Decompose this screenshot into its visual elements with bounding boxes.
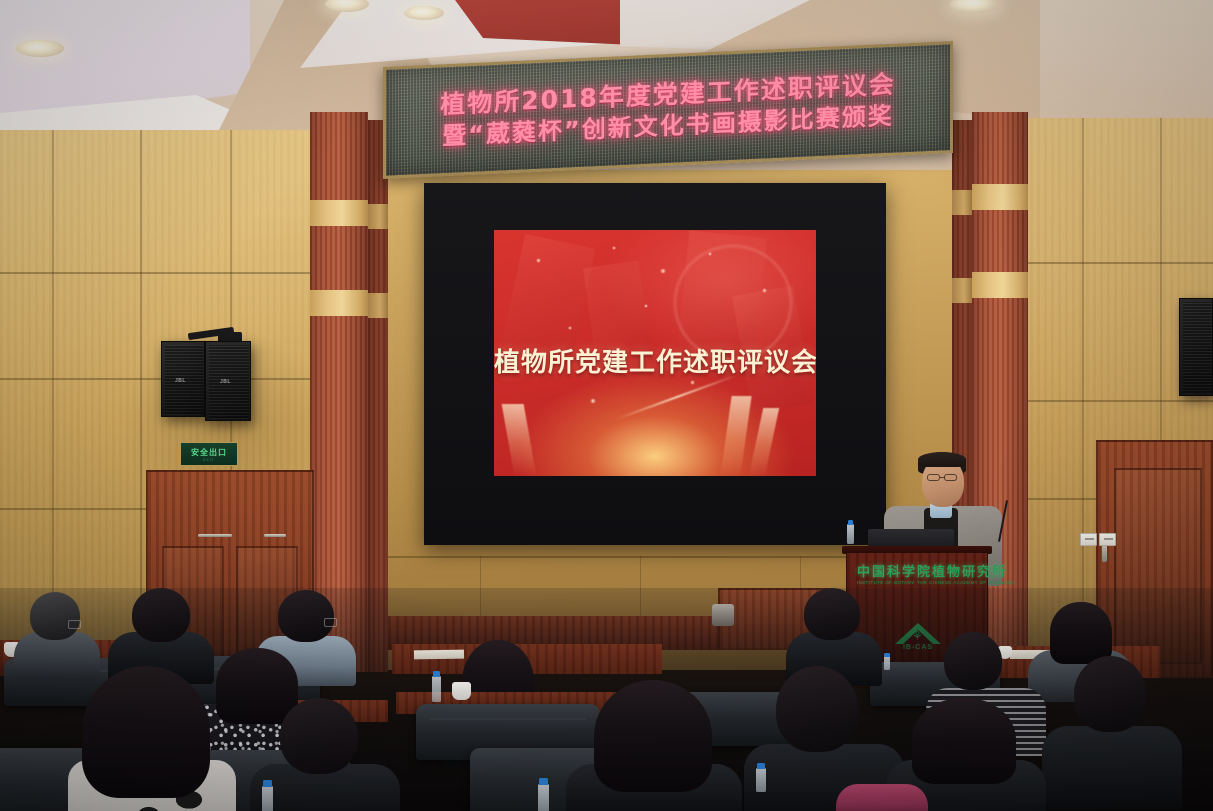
slide-sparkle: [762, 288, 767, 293]
audience-hair: [1050, 602, 1112, 664]
bottle-cap: [539, 778, 548, 785]
wall-panel-seam: [0, 272, 310, 274]
slide-sparkle: [590, 398, 596, 404]
presenter-glasses: [927, 474, 940, 481]
column-band: [952, 190, 972, 215]
audience-member: [60, 666, 240, 811]
water-bottle[interactable]: [847, 524, 854, 544]
water-bottle[interactable]: [262, 786, 273, 811]
audience-glasses: [68, 620, 81, 629]
projection-screen-slide: 植物所党建工作述职评议会: [494, 230, 816, 476]
column-band: [310, 200, 368, 226]
wall-speaker-right: [1179, 298, 1213, 396]
slide-sparkle: [708, 252, 712, 256]
column-band: [972, 184, 1028, 210]
outlet-slot: [1085, 538, 1094, 540]
bottle-cap: [263, 780, 272, 787]
bottle-cap: [848, 520, 853, 525]
audience-member: [786, 588, 882, 678]
slide-sail-shape: [749, 408, 779, 476]
audience-member: [1042, 656, 1182, 786]
audience-head: [280, 698, 358, 774]
power-outlet[interactable]: [1080, 533, 1097, 546]
slide-sparkle: [660, 268, 666, 274]
bottle-cap: [433, 671, 440, 677]
audience-head: [944, 632, 1002, 690]
water-bottle[interactable]: [538, 784, 549, 811]
podium-name-en: INSTITUTE OF BOTANY, THE CHINESE ACADEMY…: [857, 580, 979, 585]
audience-head: [30, 592, 80, 640]
wall-panel-seam: [52, 130, 54, 660]
tea-cup[interactable]: [452, 682, 471, 700]
audience-member: [14, 592, 100, 670]
speaker-grille: [1183, 302, 1211, 394]
audience-hair: [82, 666, 210, 798]
projection-screen-frame: 植物所党建工作述职评议会: [424, 183, 886, 545]
audience-area: [0, 588, 1213, 811]
presenter-glasses-bridge: [940, 477, 945, 478]
slide-sparkle: [644, 304, 648, 308]
column-band: [310, 290, 368, 316]
column-band: [952, 278, 972, 303]
downlight-icon: [404, 6, 444, 20]
audience-body-pink: [836, 784, 928, 811]
speaker-brand-label: JBL: [175, 378, 186, 384]
presenter-hair-top: [918, 452, 966, 467]
audience-head: [278, 590, 334, 642]
power-outlet[interactable]: [1099, 533, 1116, 546]
audience-glasses: [324, 618, 337, 627]
water-bottle[interactable]: [432, 676, 441, 702]
audience-body: [1042, 726, 1182, 810]
slide-sail-shape: [502, 404, 537, 476]
audience-head: [776, 666, 858, 752]
audience-head: [804, 588, 860, 640]
podium-name-cn: 中国科学院植物研究所: [857, 561, 979, 580]
audience-hair: [594, 680, 712, 792]
speaker-brand-label: JBL: [220, 379, 231, 385]
slide-sparkle: [568, 326, 572, 330]
downlight-icon: [16, 40, 64, 57]
presenter-glasses: [944, 474, 957, 481]
slide-title-text: 植物所党建工作述职评议会: [494, 342, 816, 379]
slide-sparkle: [612, 246, 616, 250]
audience-head: [1074, 656, 1146, 732]
audience-hair: [912, 698, 1016, 784]
chair-seam: [430, 718, 586, 720]
exit-sign-label-cn: 安全出口: [191, 447, 227, 458]
audience-member: [566, 680, 742, 811]
exit-sign-label-en: EXIT: [203, 458, 215, 462]
bottle-cap: [884, 653, 890, 657]
wall-speaker-left-b: JBL: [205, 341, 251, 421]
column-band: [368, 204, 388, 229]
wall-speaker-left: JBL: [161, 341, 205, 417]
door-handle[interactable]: [198, 534, 232, 537]
column-band: [972, 272, 1028, 298]
audience-head: [132, 588, 190, 642]
slide-sail-shape: [720, 396, 751, 476]
conference-hall-photo: 植物所2018年度党建工作述职评议会 暨“葳蕤杯”创新文化书画摄影比赛颁奖 植物…: [0, 0, 1213, 811]
podium-name-block: 中国科学院植物研究所 INSTITUTE OF BOTANY, THE CHIN…: [857, 561, 979, 585]
bottle-cap: [757, 763, 765, 769]
door-handle[interactable]: [264, 534, 286, 537]
outlet-slot: [1104, 538, 1113, 540]
column-band: [368, 293, 388, 318]
exit-sign: 安全出口 EXIT: [180, 442, 238, 466]
slide-sparkle: [690, 380, 695, 385]
slide-sparkle: [536, 258, 541, 263]
slide-light-streak: [616, 374, 739, 420]
water-bottle[interactable]: [756, 768, 766, 792]
